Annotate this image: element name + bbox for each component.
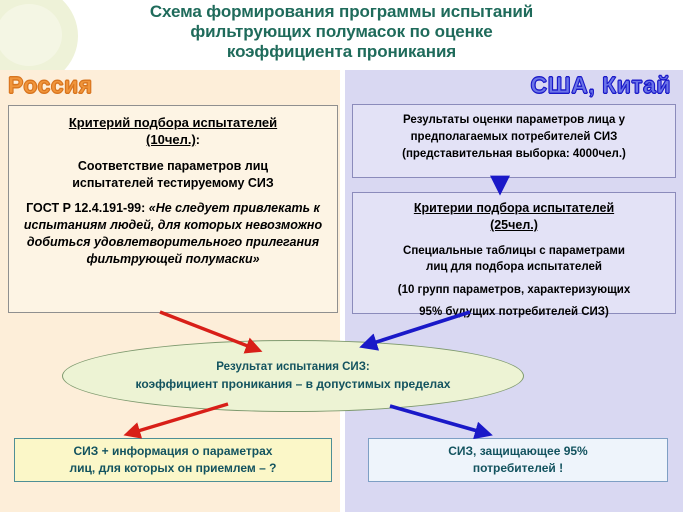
test-result-line-1: Результат испытания СИЗ: (216, 359, 369, 376)
russia-criteria-body-line-1: Соответствие параметров лиц (19, 158, 327, 175)
russia-outcome-text: СИЗ + информация о параметрах лиц, для к… (70, 443, 277, 477)
usachina-outcome-line-1: СИЗ, защищающее 95% (448, 443, 587, 460)
usachina-criteria-note-line-2: 95% будущих потребителей СИЗ) (359, 305, 669, 319)
ellipse-test-result: Результат испытания СИЗ: коэффициент про… (62, 340, 524, 412)
box-usachina-outcome: СИЗ, защищающее 95% потребителей ! (368, 438, 668, 482)
usachina-outcome-text: СИЗ, защищающее 95% потребителей ! (448, 443, 587, 477)
usachina-criteria-count: (25чел.) (359, 217, 669, 234)
russia-criteria-title-line-2: (10чел.): (19, 131, 327, 148)
page-title-line-2: фильтрующих полумасок по оценке (0, 22, 683, 42)
usachina-results-line-1: Результаты оценки параметров лица у (361, 112, 667, 129)
russia-criteria-title-colon: : (196, 133, 200, 147)
box-russia-outcome: СИЗ + информация о параметрах лиц, для к… (14, 438, 332, 482)
russia-outcome-line-2: лиц, для которых он приемлем – ? (70, 460, 277, 477)
russia-outcome-line-1: СИЗ + информация о параметрах (70, 443, 277, 460)
usachina-criteria-body-line-1: Специальные таблицы с параметрами (359, 243, 669, 259)
page-title-line-3: коэффициента проникания (0, 42, 683, 62)
slide-canvas: Схема формирования программы испытаний ф… (0, 0, 683, 512)
russia-standard-label: ГОСТ Р 12.4.191-99: (26, 201, 145, 215)
panel-heading-usa-china: США, Китай (531, 72, 671, 99)
usachina-results-line-3: (представительная выборка: 4000чел.) (361, 146, 667, 163)
test-result-line-2: коэффициент проникания – в допустимых пр… (136, 376, 451, 393)
box-usachina-criteria: Критерии подбора испытателей (25чел.) Сп… (352, 192, 676, 314)
box-usachina-results: Результаты оценки параметров лица у пред… (352, 104, 676, 178)
box-russia-criteria: Критерий подбора испытателей (10чел.): С… (8, 105, 338, 313)
usachina-criteria-note-line-1: (10 групп параметров, характеризующих (359, 283, 669, 297)
russia-criteria-title-line-1: Критерий подбора испытателей (19, 114, 327, 131)
usachina-criteria-title-line-1: Критерии подбора испытателей (359, 200, 669, 217)
usachina-criteria-body-line-2: лиц для подбора испытателей (359, 259, 669, 275)
page-title-line-1: Схема формирования программы испытаний (0, 2, 683, 22)
usachina-results-line-2: предполагаемых потребителей СИЗ (361, 129, 667, 146)
panel-heading-russia: Россия (8, 72, 93, 99)
usachina-outcome-line-2: потребителей ! (448, 460, 587, 477)
russia-criteria-body-line-2: испытателей тестируемому СИЗ (19, 175, 327, 191)
russia-criteria-standard: ГОСТ Р 12.4.191-99: «Не следует привлека… (19, 200, 327, 268)
russia-criteria-count: (10чел.) (146, 132, 196, 147)
page-title: Схема формирования программы испытаний ф… (0, 2, 683, 62)
